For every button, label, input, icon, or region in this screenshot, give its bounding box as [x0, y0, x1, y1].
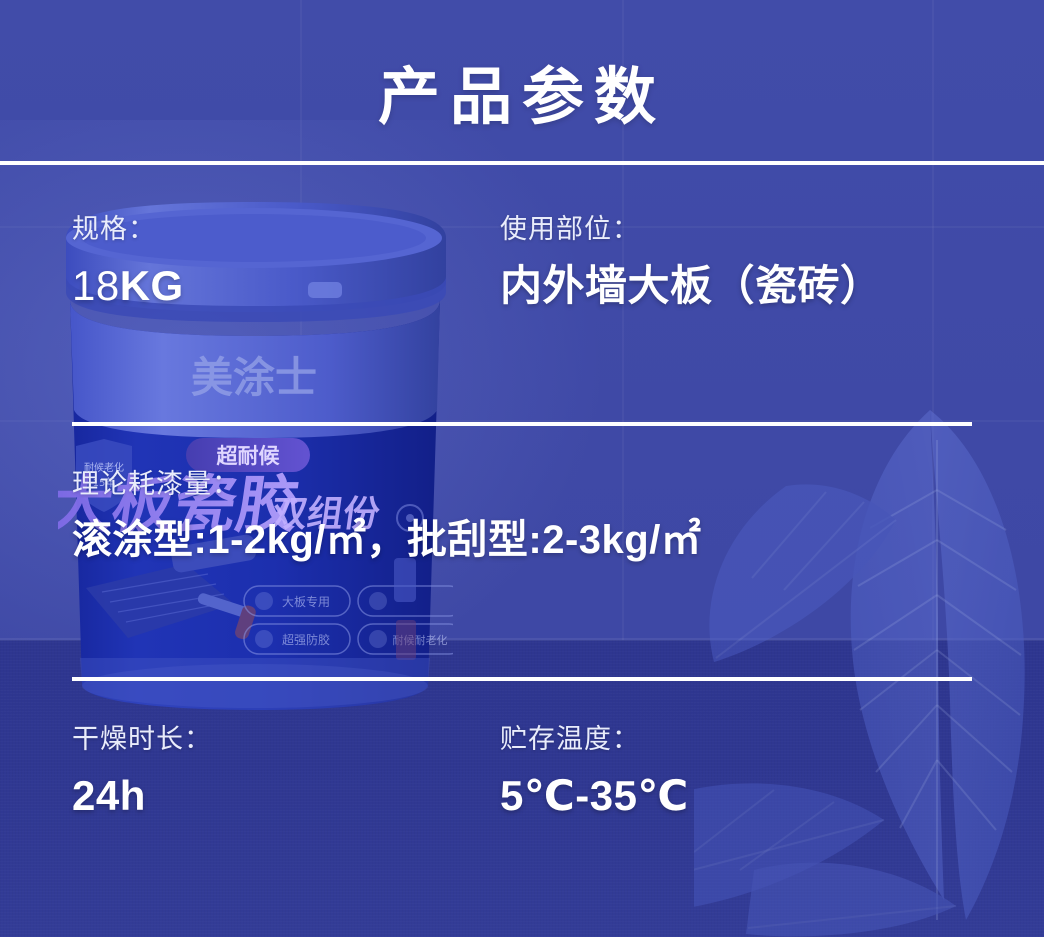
parameter-value: 滚涂型:1-2kg/㎡，批刮型:2-3kg/㎡ — [72, 516, 701, 564]
row-divider-1 — [72, 422, 972, 426]
parameter-label: 干燥时长： — [72, 723, 212, 755]
header: 产品参数 — [0, 0, 1044, 163]
parameter-row-1: 规格： 18KG 使用部位： 内外墙大板（瓷砖） — [0, 213, 1044, 473]
spec-unit: KG — [120, 262, 184, 309]
parameter-spec: 规格： 18KG — [72, 213, 184, 312]
parameter-theoretical-consumption: 理论耗漆量： 滚涂型:1-2kg/㎡，批刮型:2-3kg/㎡ — [72, 468, 701, 564]
parameter-value: 18KG — [72, 261, 184, 311]
spec-number: 18 — [72, 262, 120, 309]
parameter-value: 5℃-35℃ — [500, 771, 689, 821]
parameter-value: 24h — [72, 771, 212, 821]
parameter-label: 理论耗漆量： — [72, 468, 701, 500]
parameter-label: 使用部位： — [500, 213, 883, 245]
parameter-application-area: 使用部位： 内外墙大板（瓷砖） — [500, 213, 883, 312]
parameter-drying-time: 干燥时长： 24h — [72, 723, 212, 822]
parameter-row-3: 干燥时长： 24h 贮存温度： 5℃-35℃ — [0, 723, 1044, 937]
parameter-label: 规格： — [72, 213, 184, 245]
parameter-row-2: 理论耗漆量： 滚涂型:1-2kg/㎡，批刮型:2-3kg/㎡ — [0, 468, 1044, 723]
parameter-value: 内外墙大板（瓷砖） — [500, 261, 883, 311]
parameter-storage-temperature: 贮存温度： 5℃-35℃ — [500, 723, 689, 822]
product-parameters-infographic: 美涂士 超耐候 耐候老化 15年 大板瓷胶 双组份 — [0, 0, 1044, 937]
parameter-grid: 规格： 18KG 使用部位： 内外墙大板（瓷砖） 理论耗漆量： 滚涂型:1-2k… — [0, 163, 1044, 937]
page-title: 产品参数 — [0, 46, 1044, 136]
row-divider-2 — [72, 677, 972, 681]
parameter-label: 贮存温度： — [500, 723, 689, 755]
